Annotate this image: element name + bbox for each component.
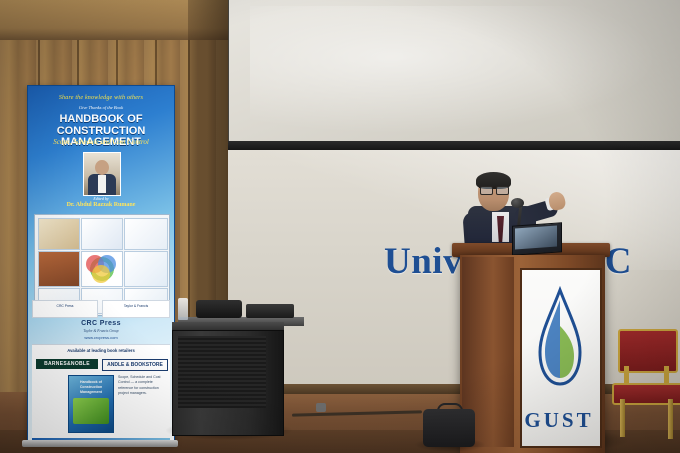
author-photo-head — [95, 160, 109, 175]
gust-water-drop-icon — [538, 286, 582, 396]
presenter-glasses-left-lens — [480, 186, 493, 195]
chair-leg-right — [668, 399, 673, 439]
banner-publisher: CRC Press — [28, 320, 174, 327]
banner-author-label: Edited by — [28, 196, 174, 201]
screen-glow — [250, 6, 660, 134]
banner-side-text: Scope, Schedule and Cost Control — a com… — [118, 375, 166, 397]
banner-book-title: Handbook of Construction Management — [71, 380, 111, 395]
author-photo-shirt — [98, 175, 106, 193]
banner-publisher-url: www.crcpress.com — [28, 335, 174, 340]
banner-title-line1: HANDBOOK OF — [28, 114, 174, 126]
gust-wordmark: GUST — [520, 408, 598, 433]
pa-speaker-grill — [178, 336, 266, 408]
banner-tagline: Share the knowledge with others — [28, 95, 174, 101]
microphone-head — [511, 198, 524, 208]
table-item-case — [246, 304, 294, 318]
presenter-glasses-right-lens — [496, 186, 509, 195]
banner-retailer-1: BARNES&NOBLE — [36, 359, 98, 369]
collage-tile-venn — [81, 251, 123, 287]
banner-retail-panel: Available at leading book retailers BARN… — [32, 344, 170, 439]
banner-subtagline: Give Thanks of the Book — [28, 105, 174, 110]
floor-small-object — [316, 403, 326, 412]
floor-bag — [423, 409, 475, 447]
banner-author-photo — [83, 152, 121, 196]
collage-tile-6 — [124, 251, 168, 287]
banner-subtitle: Scope, Schedule and Cost Control — [28, 138, 174, 146]
collage-tile-2 — [81, 218, 123, 250]
banner-book-graphic — [73, 398, 109, 424]
banner-logo-row: CRC Press Taylor & Francis — [32, 300, 170, 318]
banner-stand-base — [22, 440, 178, 447]
table-item-bottle — [178, 298, 188, 320]
banner-retailer-2: ANDLE & BOOKSTORE — [102, 359, 168, 371]
banner-author-name: Dr. Abdul Razzak Rumane — [28, 202, 174, 208]
laptop-screen-glow — [515, 226, 557, 250]
collage-tile-4 — [38, 251, 80, 287]
banner-logo-right: Taylor & Francis — [102, 300, 170, 318]
collage-tile-3 — [124, 218, 168, 250]
banner-publisher-tagline: Taylor & Francis Group — [28, 329, 174, 333]
banner-book-cover: Handbook of Construction Management — [68, 375, 114, 433]
photo-scene: University of C Share the knowledge with… — [0, 0, 680, 453]
collage-tile-1 — [38, 218, 80, 250]
banner-retail-title: Available at leading book retailers — [32, 348, 170, 353]
rollup-banner: Share the knowledge with others Give Tha… — [27, 85, 175, 444]
table-item-box — [196, 300, 242, 318]
banner-logo-left: CRC Press — [32, 300, 98, 318]
